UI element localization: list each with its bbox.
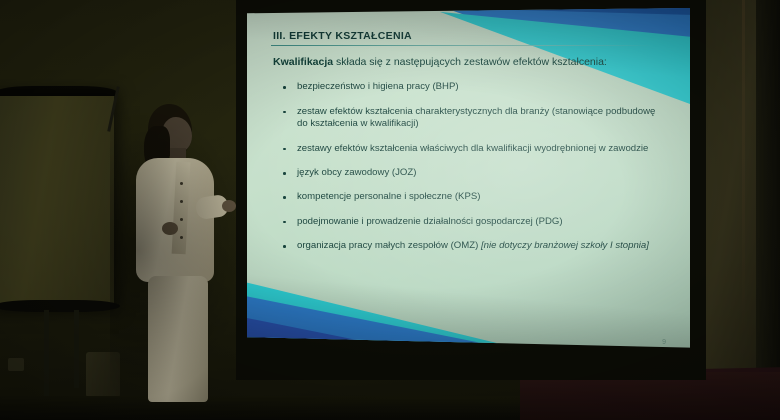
wall-seam bbox=[742, 0, 745, 330]
waste-bin bbox=[86, 352, 120, 400]
slide-intro-bold: Kwalifikacja bbox=[273, 56, 333, 68]
slide-intro: Kwalifikacja składa się z następujących … bbox=[273, 56, 668, 69]
flipchart-leg-right bbox=[74, 310, 79, 388]
bullet-text: zestawy efektów kształcenia właściwych d… bbox=[297, 143, 648, 154]
bullet-list: bezpieczeństwo i higiena pracy (BHP) zes… bbox=[269, 81, 668, 253]
presenter bbox=[118, 104, 236, 404]
bullet-text: język obcy zawodowy (JOZ) bbox=[297, 167, 416, 178]
presenter-legs bbox=[148, 276, 208, 402]
flipchart-leg-left bbox=[44, 310, 49, 396]
bullet-dot-icon bbox=[283, 148, 286, 151]
list-item: zestawy efektów kształcenia właściwych d… bbox=[279, 143, 662, 155]
bullet-dot-icon bbox=[283, 172, 286, 175]
list-item: organizacja pracy małych zespołów (OMZ) … bbox=[279, 240, 662, 252]
floor bbox=[0, 396, 540, 420]
slide-title: III. EFEKTY KSZTAŁCENIA bbox=[273, 30, 668, 42]
bullet-note: [nie dotyczy branżowej szkoły I stopnia] bbox=[481, 240, 649, 251]
slide-content: III. EFEKTY KSZTAŁCENIA Kwalifikacja skł… bbox=[247, 8, 690, 360]
bullet-dot-icon bbox=[283, 86, 286, 89]
title-divider bbox=[271, 45, 654, 46]
bullet-dot-icon bbox=[283, 196, 286, 199]
presenter-hand-left bbox=[162, 222, 178, 235]
list-item: bezpieczeństwo i higiena pracy (BHP) bbox=[279, 81, 662, 93]
wall-socket bbox=[8, 358, 24, 371]
bullet-text: organizacja pracy małych zespołów (OMZ) bbox=[297, 240, 481, 251]
projected-slide: III. EFEKTY KSZTAŁCENIA Kwalifikacja skł… bbox=[247, 8, 690, 360]
bullet-text: podejmowanie i prowadzenie działalności … bbox=[297, 216, 563, 227]
presenter-button bbox=[180, 182, 183, 185]
presenter-button bbox=[180, 218, 183, 221]
slide-page-number: 9 bbox=[662, 339, 666, 346]
presenter-hand-right bbox=[222, 200, 236, 212]
bullet-dot-icon bbox=[283, 221, 286, 224]
presenter-button bbox=[180, 200, 183, 203]
bullet-dot-icon bbox=[283, 111, 286, 114]
list-item: podejmowanie i prowadzenie działalności … bbox=[279, 216, 662, 228]
list-item: kompetencje personalne i społeczne (KPS) bbox=[279, 191, 662, 203]
photo-scene: III. EFEKTY KSZTAŁCENIA Kwalifikacja skł… bbox=[0, 0, 780, 420]
bullet-text: kompetencje personalne i społeczne (KPS) bbox=[297, 191, 480, 202]
list-item: język obcy zawodowy (JOZ) bbox=[279, 167, 662, 179]
bullet-text: bezpieczeństwo i higiena pracy (BHP) bbox=[297, 81, 459, 92]
bullet-text: zestaw efektów kształcenia charakterysty… bbox=[297, 106, 655, 129]
flipchart-bottom-bar bbox=[0, 300, 120, 312]
flipchart-board bbox=[0, 96, 114, 308]
right-wall-shadow bbox=[756, 0, 780, 420]
presenter-button bbox=[180, 236, 183, 239]
list-item: zestaw efektów kształcenia charakterysty… bbox=[279, 106, 662, 131]
bullet-dot-icon bbox=[283, 245, 286, 248]
slide-intro-rest: składa się z następujących zestawów efek… bbox=[333, 56, 607, 68]
